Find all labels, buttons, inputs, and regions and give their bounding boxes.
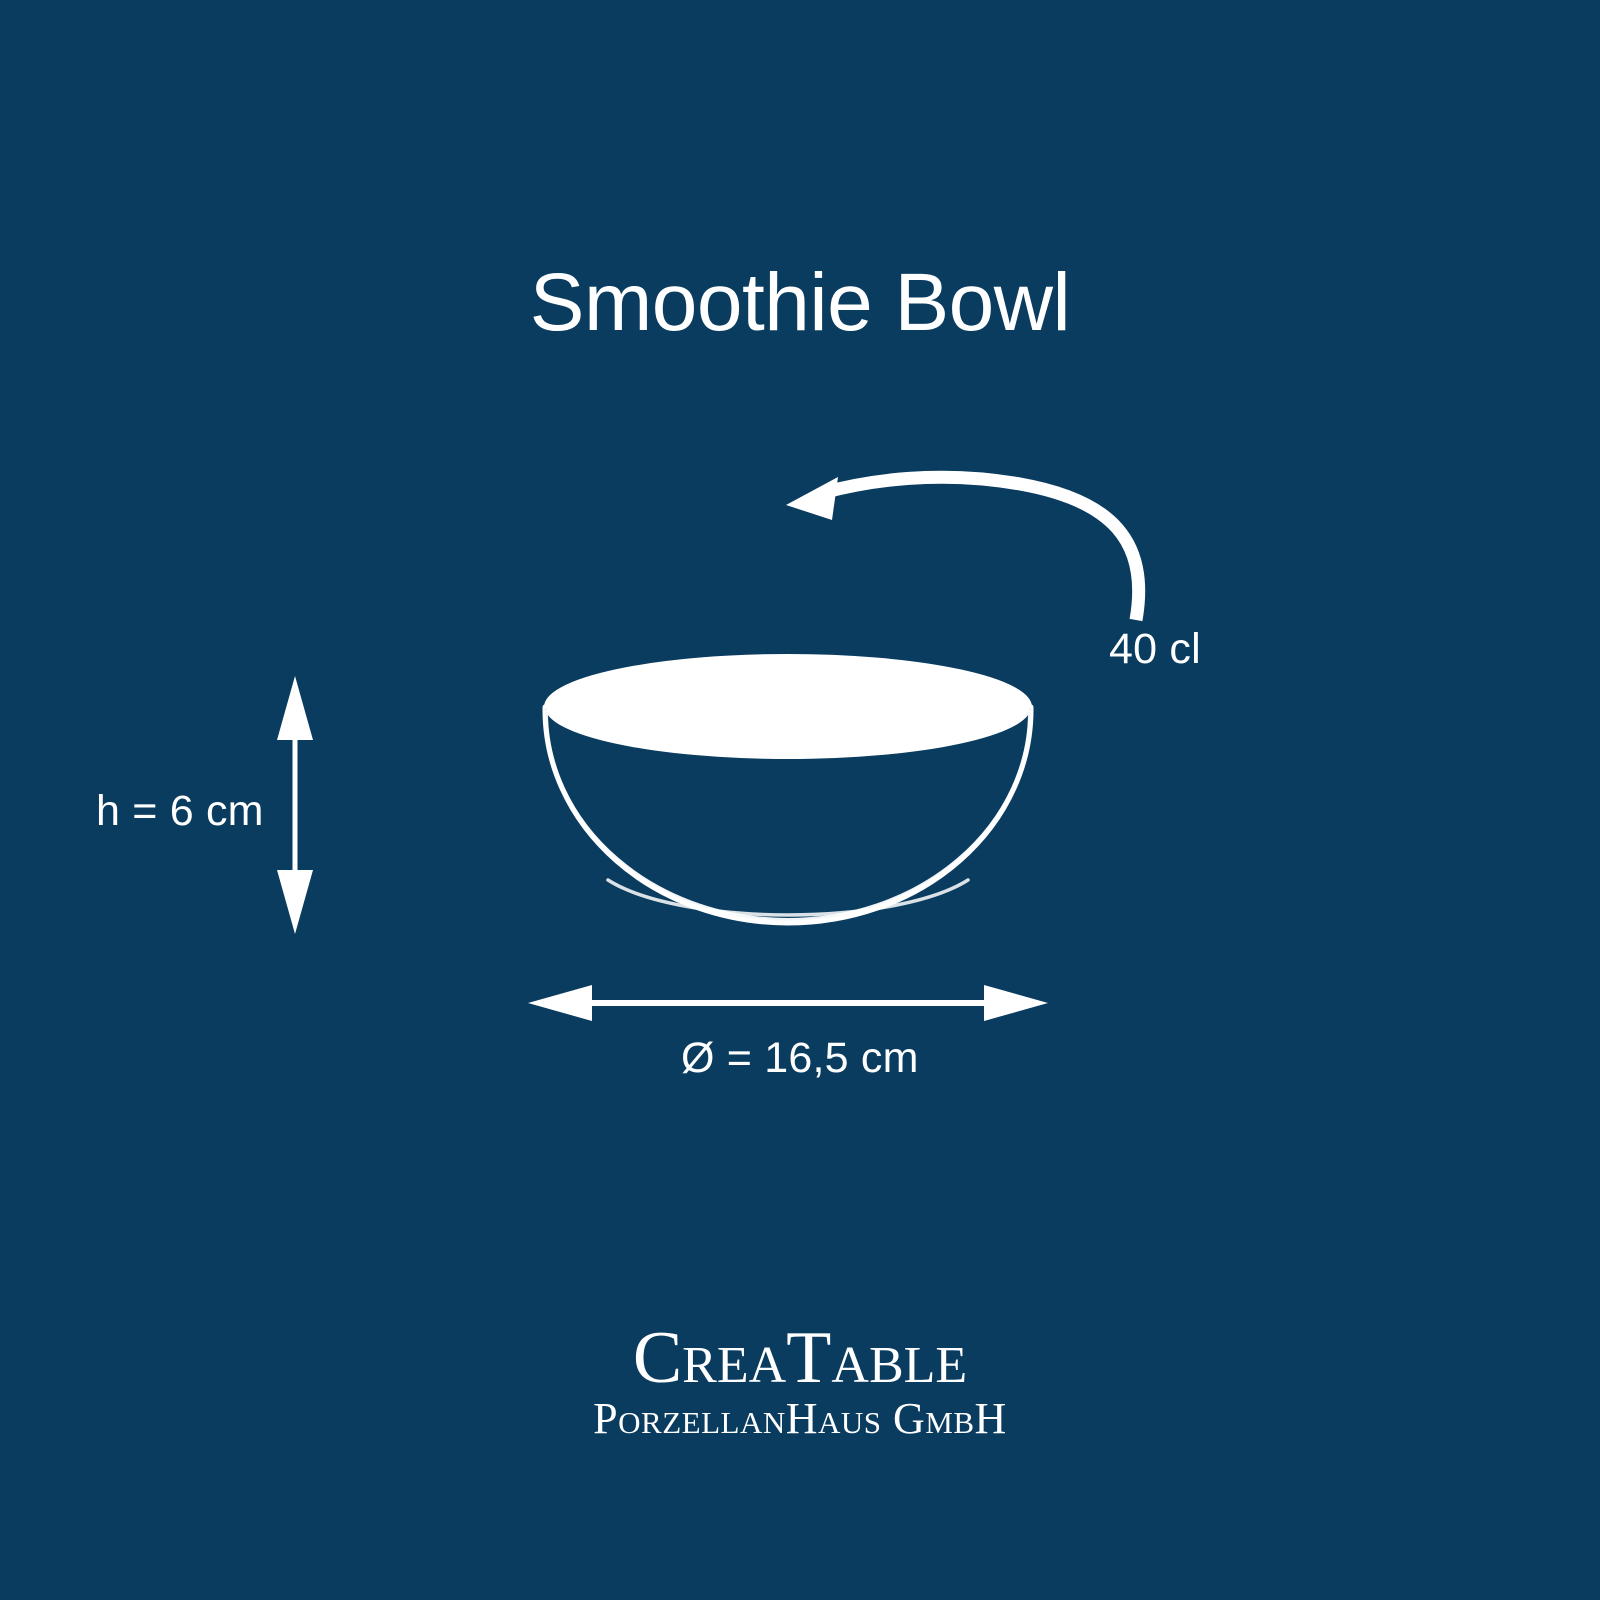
height-dimension-arrow	[277, 676, 313, 934]
page-title: Smoothie Bowl	[0, 262, 1600, 344]
height-dimension-label: h = 6 cm	[96, 790, 264, 833]
product-spec-canvas: Smoothie Bowl h = 6 cm Ø = 16,5 cm 40 cl…	[0, 0, 1600, 1600]
volume-curved-arrow	[786, 477, 1139, 620]
height-arrow-head-bottom	[277, 870, 313, 934]
diameter-dimension-label: Ø = 16,5 cm	[681, 1037, 919, 1080]
height-arrow-head-top	[277, 676, 313, 740]
volume-label: 40 cl	[1109, 628, 1201, 671]
diameter-arrow-head-right	[984, 985, 1048, 1021]
bowl-illustration	[545, 655, 1031, 923]
volume-arrow-head	[786, 477, 838, 520]
brand-logo: CreaTable PorzellanHaus GmbH	[0, 1322, 1600, 1441]
bowl-rim-ellipse	[545, 655, 1031, 759]
diameter-arrow-head-left	[528, 985, 592, 1021]
volume-arrow-curve	[822, 477, 1139, 620]
diameter-dimension-arrow	[528, 985, 1048, 1021]
brand-name: CreaTable	[0, 1322, 1600, 1395]
brand-subtitle: PorzellanHaus GmbH	[0, 1397, 1600, 1441]
